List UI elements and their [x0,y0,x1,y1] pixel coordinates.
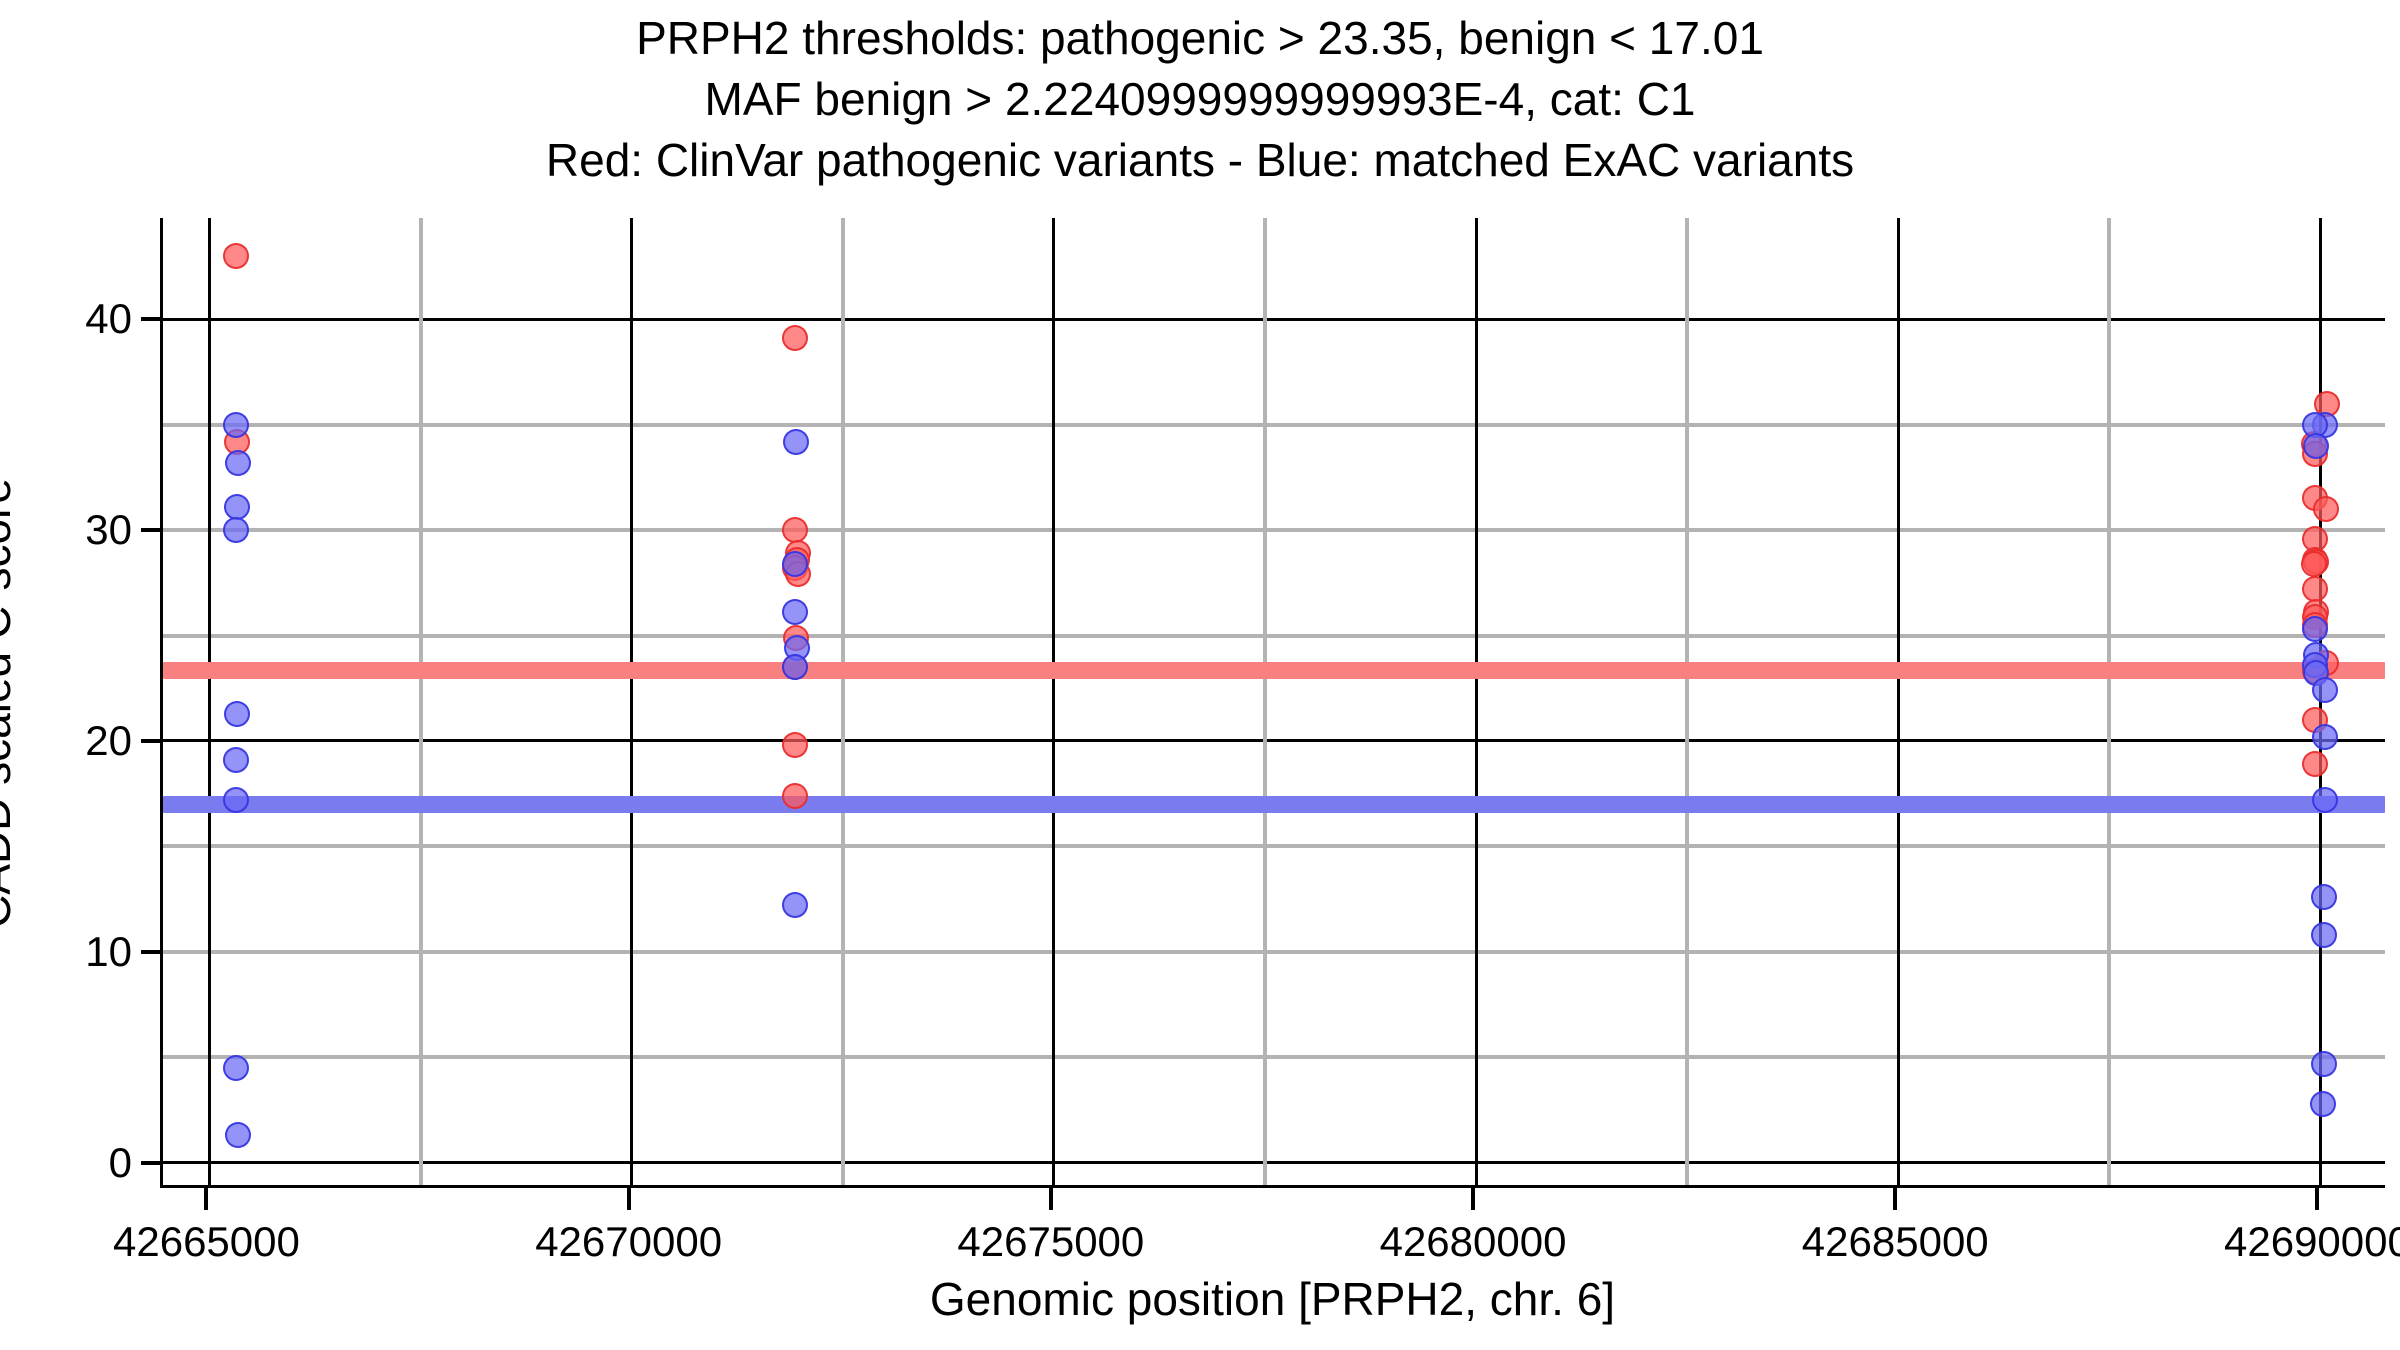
gridline-vertical [419,218,423,1185]
data-point-benign [2311,922,2337,948]
data-point-benign [224,494,250,520]
chart-page: PRPH2 thresholds: pathogenic > 23.35, be… [0,0,2400,1350]
gridline-horizontal [163,1055,2385,1059]
gridline-horizontal [163,423,2385,427]
gridline-horizontal [163,634,2385,638]
gridline-vertical [1475,218,1478,1185]
data-point-pathogenic [782,517,808,543]
plot-area [160,218,2385,1188]
data-point-pathogenic [2302,751,2328,777]
gridline-vertical [1897,218,1900,1185]
x-axis-tick-label: 42670000 [429,1218,829,1266]
data-point-pathogenic [2301,551,2327,577]
data-point-pathogenic [782,325,808,351]
title-line-1: PRPH2 thresholds: pathogenic > 23.35, be… [0,8,2400,69]
x-axis-tick [627,1188,631,1210]
y-axis-tick [141,528,163,532]
gridline-vertical [2107,218,2111,1185]
gridline-horizontal [163,1161,2385,1164]
data-point-benign [782,599,808,625]
y-axis-tick [141,950,163,954]
pathogenic-threshold-line [163,662,2385,679]
data-point-benign [2312,724,2338,750]
x-axis-tick-label: 42665000 [6,1218,406,1266]
data-point-benign [223,412,249,438]
gridline-horizontal [163,844,2385,848]
data-point-benign [225,450,251,476]
y-axis-tick [141,1161,163,1165]
data-point-benign [224,701,250,727]
x-axis-tick-label: 42685000 [1695,1218,2095,1266]
data-point-benign [782,551,808,577]
y-axis-title: CADD scaled C-score [0,353,21,1053]
x-axis-tick [1049,1188,1053,1210]
data-point-benign [225,1122,251,1148]
data-point-benign [2303,433,2329,459]
data-point-benign [2311,1051,2337,1077]
x-axis-tick [2315,1188,2319,1210]
data-point-benign [2311,884,2337,910]
title-line-2: MAF benign > 2.2240999999999993E-4, cat:… [0,69,2400,130]
gridline-vertical [1052,218,1055,1185]
x-axis-tick-label: 42675000 [851,1218,1251,1266]
gridline-vertical [208,218,211,1185]
data-point-pathogenic [2313,496,2339,522]
chart-title: PRPH2 thresholds: pathogenic > 23.35, be… [0,8,2400,192]
x-axis-title: Genomic position [PRPH2, chr. 6] [160,1272,2385,1326]
gridline-horizontal [163,739,2385,742]
data-point-benign [223,1055,249,1081]
data-point-pathogenic [782,783,808,809]
gridline-vertical [1263,218,1267,1185]
y-axis-tick [141,317,163,321]
x-axis-tick-label: 42680000 [1273,1218,1673,1266]
x-axis-tick [1893,1188,1897,1210]
y-axis-tick-labels: 010203040 [0,218,160,1188]
gridline-horizontal [163,528,2385,532]
plot-canvas [163,218,2385,1185]
gridline-vertical [630,218,633,1185]
x-axis-tick-label: 42690000 [2117,1218,2400,1266]
x-axis-tick-labels: 4266500042670000426750004268000042685000… [160,1188,2385,1268]
y-axis-tick-label: 0 [0,1139,132,1187]
y-axis-tick [141,739,163,743]
title-line-3: Red: ClinVar pathogenic variants - Blue:… [0,130,2400,191]
gridline-vertical [1685,218,1689,1185]
x-axis-tick [1471,1188,1475,1210]
gridline-horizontal [163,318,2385,321]
data-point-benign [2312,677,2338,703]
gridline-vertical [841,218,845,1185]
y-axis-tick-label: 40 [0,295,132,343]
data-point-benign [223,747,249,773]
data-point-benign [782,654,808,680]
data-point-benign [2302,616,2328,642]
data-point-pathogenic [223,243,249,269]
data-point-pathogenic [2302,576,2328,602]
data-point-benign [2310,1091,2336,1117]
x-axis-tick [204,1188,208,1210]
data-point-benign [2312,787,2338,813]
data-point-benign [223,517,249,543]
data-point-pathogenic [782,732,808,758]
data-point-benign [782,892,808,918]
gridline-horizontal [163,950,2385,954]
benign-threshold-line [163,796,2385,813]
data-point-benign [783,429,809,455]
